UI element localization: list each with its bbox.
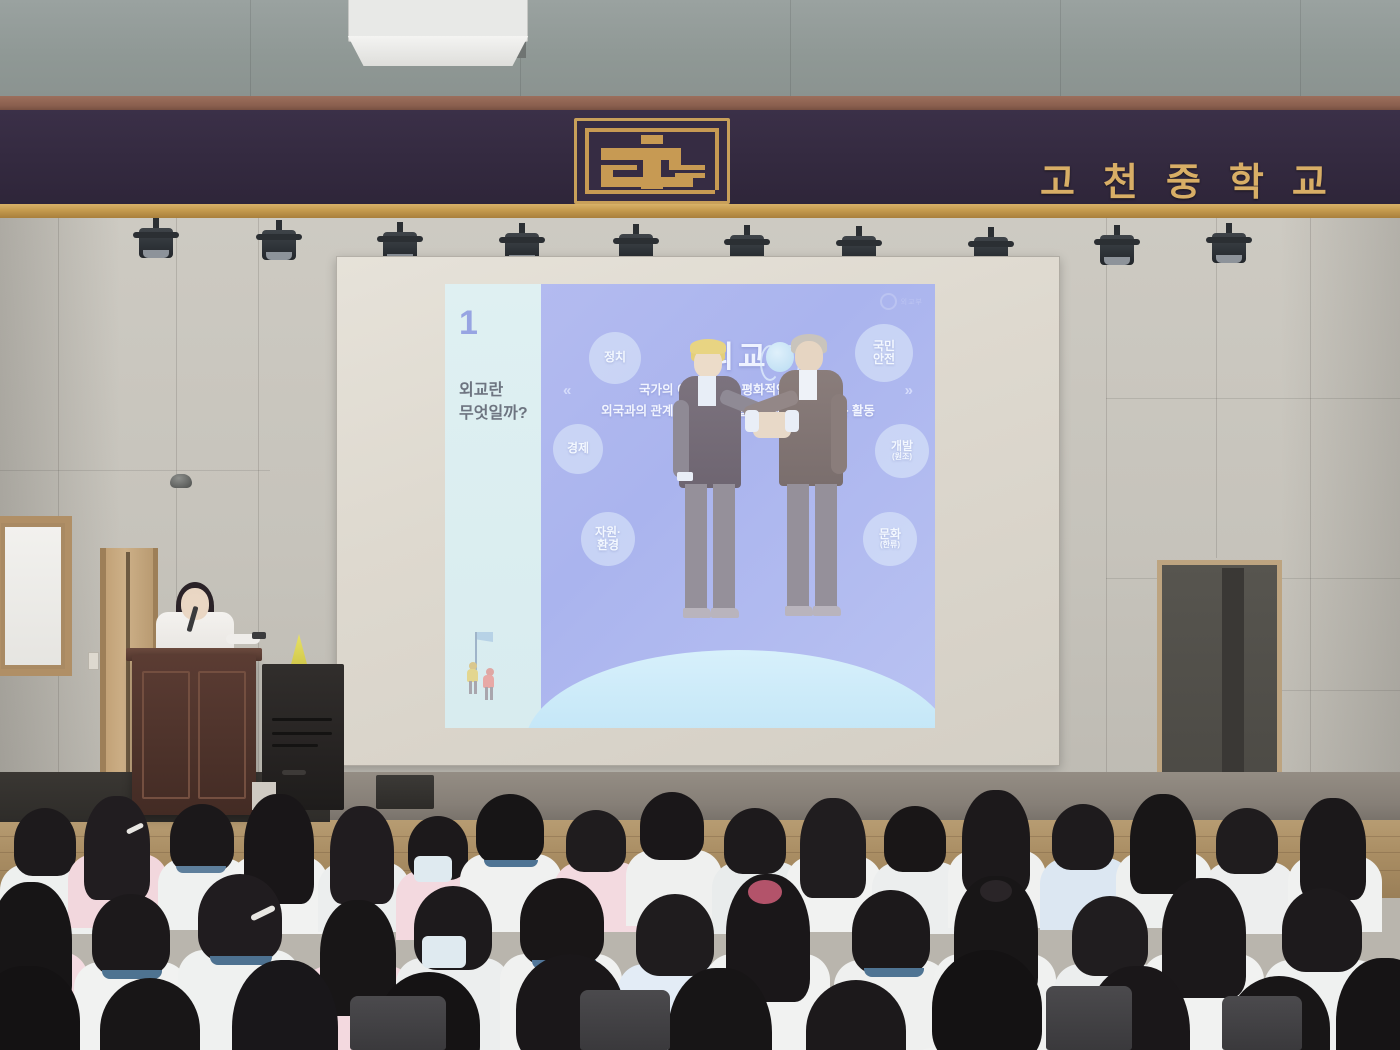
topic-bubble-economy: 경제 [553, 424, 603, 474]
brand-label: 외교부 [901, 297, 923, 307]
presentation-slide: 1 외교란 무엇일까? 외교부 외교 « » 국가의 이익을 위해 평화적인 방… [445, 284, 935, 728]
stage-spotlight [1094, 231, 1140, 267]
school-name-char: 교 [1292, 151, 1329, 206]
security-camera-icon [170, 474, 192, 488]
topic-bubble-politics: 정치 [589, 332, 641, 384]
audience-chair [580, 990, 670, 1050]
bubble-sublabel: (원조) [892, 453, 912, 462]
flag-bearers-icon [457, 628, 517, 702]
slide-section-number: 1 [459, 306, 541, 340]
school-emblem [574, 118, 730, 204]
stage-spotlight [1206, 229, 1252, 265]
bubble-sublabel: 환경 [597, 539, 619, 552]
school-name-char: 천 [1103, 151, 1140, 206]
auditorium-photo: 고 천 중 학 교 [0, 0, 1400, 1050]
projector-lens-body [340, 36, 536, 66]
light-switch[interactable] [88, 652, 99, 670]
audience-chair [1222, 996, 1302, 1050]
projector-housing [348, 0, 528, 42]
topic-bubble-development: 개발 (원조) [875, 424, 929, 478]
diplomat-right-figure [771, 336, 857, 624]
audience-chair [1046, 986, 1132, 1050]
slide-question-line1: 외교란 [459, 380, 541, 403]
audience-chair [350, 996, 446, 1050]
bubble-label: 정치 [604, 351, 626, 364]
bubble-label: 국민 [873, 340, 895, 353]
globe-illustration [525, 650, 935, 728]
ceiling [0, 0, 1400, 104]
bubble-sublabel: (한류) [880, 541, 900, 550]
stage-spotlight [133, 224, 179, 260]
topic-bubble-public-safety: 국민 안전 [855, 324, 913, 382]
brand-mark-icon [880, 293, 897, 310]
hall-window [0, 516, 72, 676]
bubble-label: 경제 [567, 442, 589, 455]
slide-question-line2: 무엇일까? [459, 403, 541, 426]
slide-section-question: 외교란 무엇일까? [459, 380, 541, 425]
bubble-label: 자원· [595, 526, 621, 539]
gold-rail [0, 204, 1400, 218]
school-name-char: 고 [1040, 151, 1077, 206]
bubble-sublabel: 안전 [873, 353, 895, 366]
school-name-sign: 고 천 중 학 교 [1040, 152, 1390, 204]
topic-bubble-culture: 문화 (한류) [863, 512, 917, 566]
topic-bubble-resources-environment: 자원· 환경 [581, 512, 635, 566]
diplomat-left-figure [669, 342, 755, 624]
school-name-char: 중 [1166, 151, 1203, 206]
audience-area [0, 790, 1400, 1050]
ministry-brand-logo: 외교부 [880, 293, 923, 310]
slide-content: 외교부 외교 « » 국가의 이익을 위해 평화적인 방법으로 외국과의 관계를… [541, 284, 935, 728]
school-name-char: 학 [1229, 151, 1266, 206]
stage-spotlight [256, 226, 302, 262]
presentation-remote-icon[interactable] [252, 632, 266, 639]
